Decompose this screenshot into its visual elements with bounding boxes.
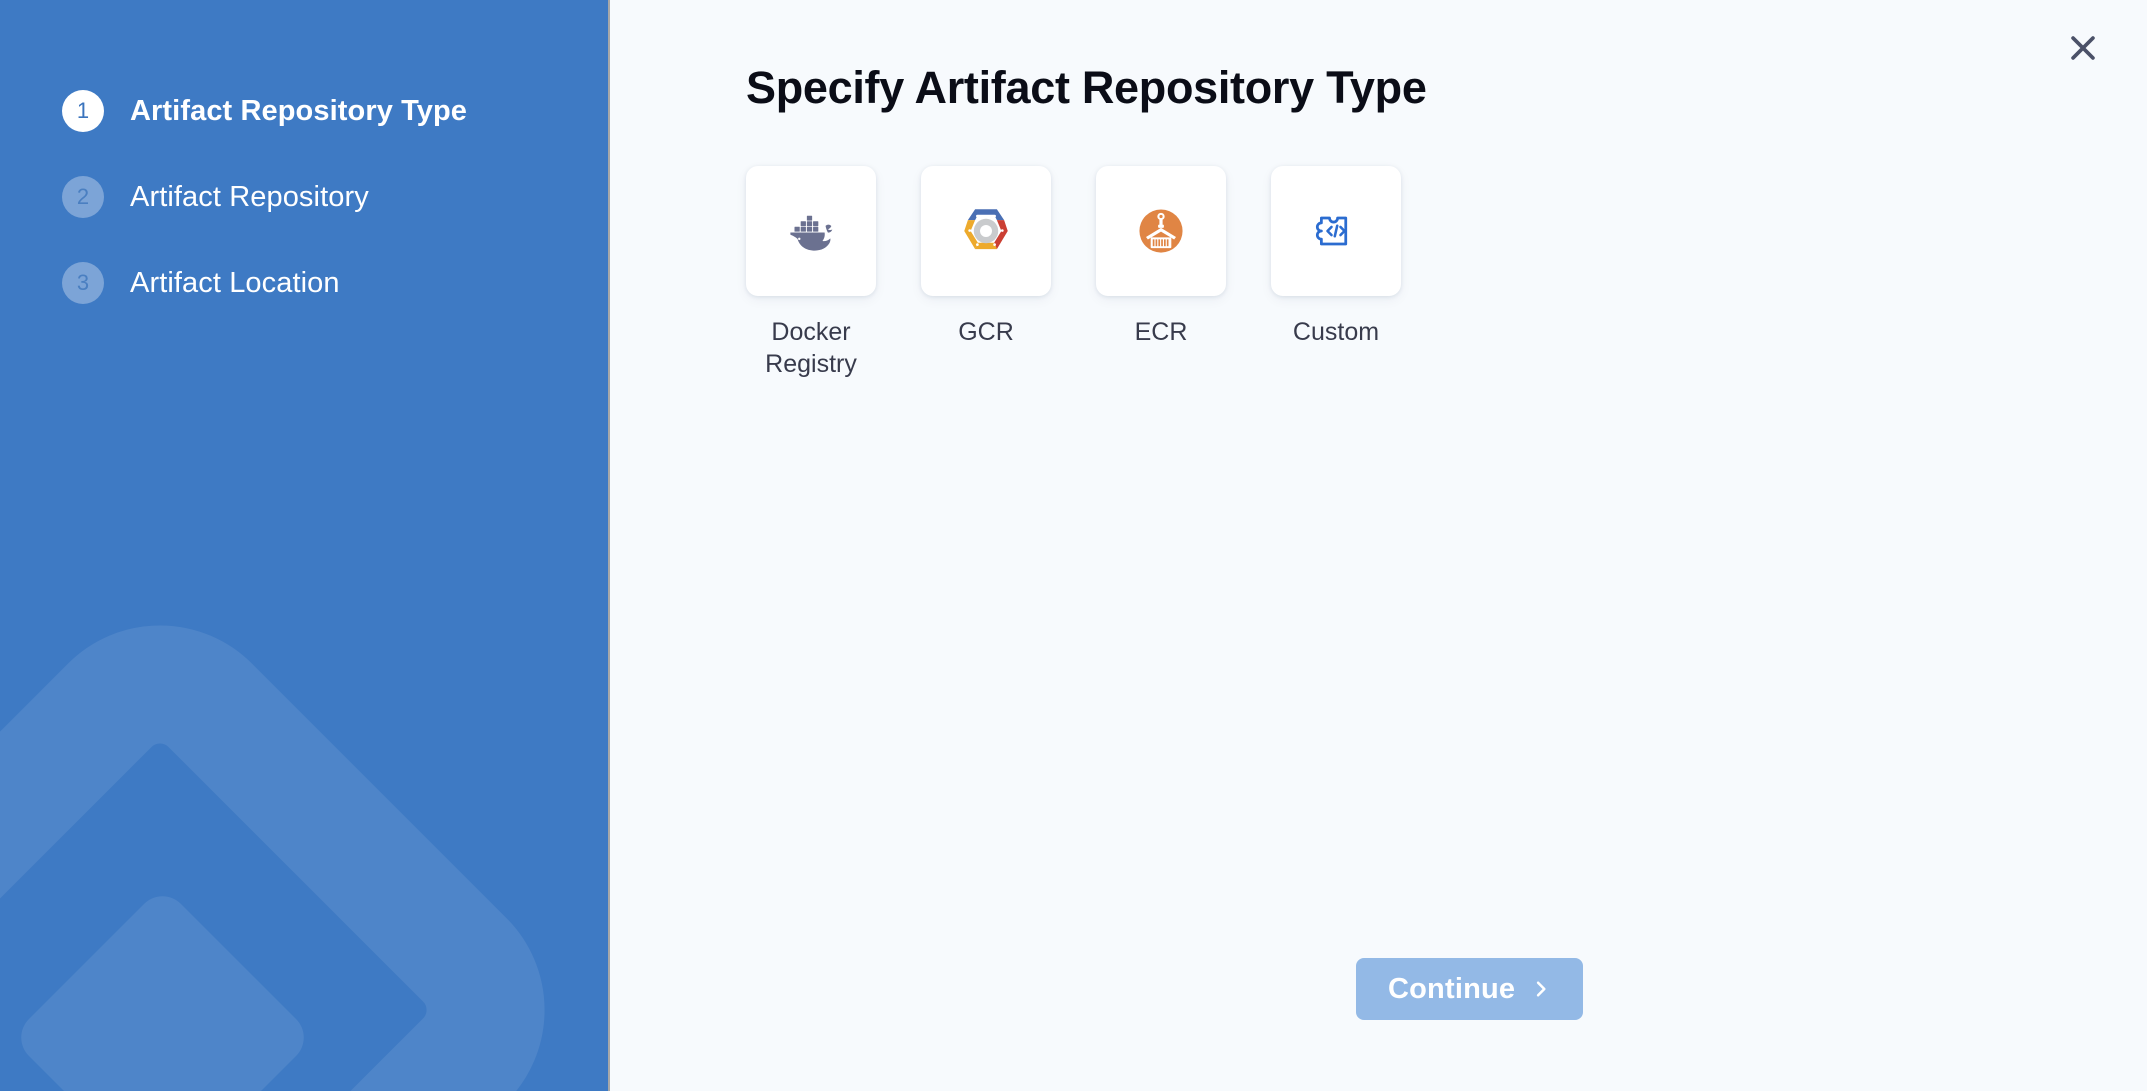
step-number-badge-2: 2 bbox=[62, 176, 104, 218]
custom-card-label: Custom bbox=[1277, 316, 1395, 349]
harness-logo-watermark-icon bbox=[0, 572, 598, 1091]
ecr-card-label: ECR bbox=[1102, 316, 1220, 349]
wizard-content: Specify Artifact Repository Type bbox=[610, 0, 2147, 381]
step-number-badge-3: 3 bbox=[62, 262, 104, 304]
chevron-right-icon bbox=[1531, 976, 1551, 1002]
continue-button-label: Continue bbox=[1388, 973, 1515, 1006]
step-label-2: Artifact Repository bbox=[130, 181, 369, 214]
docker-whale-icon bbox=[781, 201, 841, 261]
google-cloud-hexagon-icon bbox=[957, 202, 1015, 260]
close-button[interactable] bbox=[2057, 22, 2109, 74]
ecr-card[interactable] bbox=[1096, 166, 1226, 296]
repository-type-option-ecr[interactable]: ECR bbox=[1096, 166, 1226, 381]
close-icon bbox=[2066, 31, 2100, 65]
docker-registry-card-label: Docker Registry bbox=[752, 316, 870, 381]
artifact-repository-wizard: 1 Artifact Repository Type 2 Artifact Re… bbox=[0, 0, 2147, 1091]
harness-logo-watermark-diamond-icon bbox=[10, 885, 314, 1091]
step-number-badge-1: 1 bbox=[62, 90, 104, 132]
step-label-3: Artifact Location bbox=[130, 267, 340, 300]
sidebar-step-artifact-location[interactable]: 3 Artifact Location bbox=[0, 240, 608, 326]
gcr-card-label: GCR bbox=[927, 316, 1045, 349]
custom-code-puzzle-icon bbox=[1310, 205, 1362, 257]
docker-registry-card[interactable] bbox=[746, 166, 876, 296]
sidebar-step-artifact-repository[interactable]: 2 Artifact Repository bbox=[0, 154, 608, 240]
repository-type-card-list: Docker Registry bbox=[746, 166, 2147, 381]
wizard-footer: Continue bbox=[1356, 958, 1583, 1020]
wizard-step-list: 1 Artifact Repository Type 2 Artifact Re… bbox=[0, 0, 608, 326]
continue-button[interactable]: Continue bbox=[1356, 958, 1583, 1020]
repository-type-option-custom[interactable]: Custom bbox=[1271, 166, 1401, 381]
wizard-sidebar: 1 Artifact Repository Type 2 Artifact Re… bbox=[0, 0, 610, 1091]
page-title: Specify Artifact Repository Type bbox=[746, 62, 2147, 114]
repository-type-option-gcr[interactable]: GCR bbox=[921, 166, 1051, 381]
step-label-1: Artifact Repository Type bbox=[130, 95, 467, 128]
gcr-card[interactable] bbox=[921, 166, 1051, 296]
custom-card[interactable] bbox=[1271, 166, 1401, 296]
aws-ecr-container-crane-icon bbox=[1131, 201, 1191, 261]
repository-type-option-docker-registry[interactable]: Docker Registry bbox=[746, 166, 876, 381]
wizard-main-panel: Specify Artifact Repository Type bbox=[610, 0, 2147, 1091]
sidebar-step-artifact-repository-type[interactable]: 1 Artifact Repository Type bbox=[0, 68, 608, 154]
